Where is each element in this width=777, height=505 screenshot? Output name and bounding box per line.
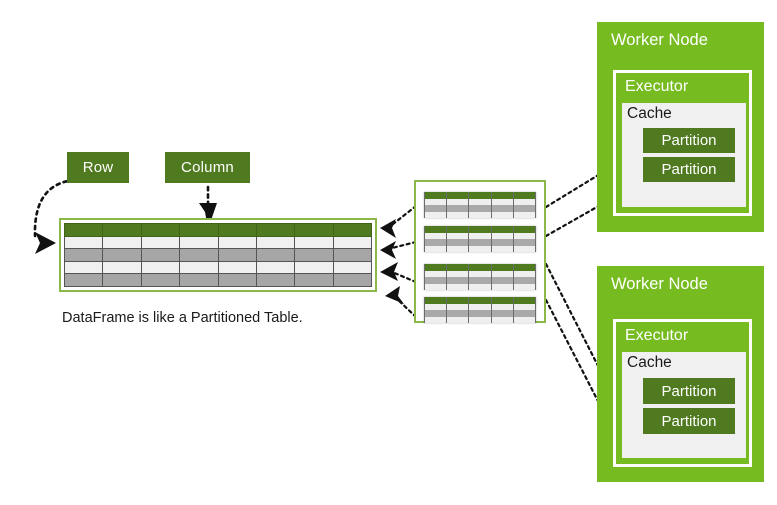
partition-mini-cell (491, 246, 513, 253)
partition-mini-cell (447, 246, 469, 253)
dataframe-cell (295, 224, 333, 237)
dataframe-cell (256, 261, 294, 274)
partition-mini-table (424, 226, 536, 252)
dataframe-cell (103, 261, 141, 274)
page-title: DataFrame is like a Partitioned Table. (62, 310, 303, 326)
worker-node-2-partition-2: Partition (643, 408, 735, 434)
partition-mini-cell (491, 317, 513, 324)
dataframe-cell (295, 274, 333, 287)
dataframe-cell (218, 274, 256, 287)
dataframe-row (65, 261, 372, 274)
partition-mini-cell (447, 317, 469, 324)
partition-mini-cell (425, 317, 447, 324)
partition-mini-cell (491, 212, 513, 219)
worker-node-2-cache: Cache Partition Partition (622, 352, 746, 458)
partition-mini-row (425, 284, 536, 291)
dataframe-cell (180, 274, 218, 287)
partition-mini-table (424, 264, 536, 290)
worker-node-2: Worker Node Executor Cache Partition Par… (597, 266, 764, 482)
worker-node-1-partition-2: Partition (643, 157, 735, 182)
dataframe-cell (256, 249, 294, 262)
partition-mini-cell (469, 317, 491, 324)
partition-mini-row (425, 246, 536, 253)
dataframe-cell (180, 261, 218, 274)
label-chip-column-text: Column (181, 159, 234, 176)
dataframe-cell (141, 274, 179, 287)
dataframe-row (65, 249, 372, 262)
partition-mini-cell (425, 212, 447, 219)
partition-container (414, 180, 546, 323)
dataframe-row (65, 236, 372, 249)
dataframe-cell (295, 236, 333, 249)
partition-mini-table (424, 297, 536, 323)
worker-node-2-cache-title: Cache (627, 354, 672, 372)
dataframe-cell (218, 236, 256, 249)
dataframe-cell (333, 236, 371, 249)
dataframe-cell (218, 224, 256, 237)
dataframe-cell (180, 236, 218, 249)
partition-mini-cell (513, 284, 535, 291)
label-chip-column: Column (165, 152, 250, 183)
worker-node-1-partition-1-label: Partition (661, 132, 716, 149)
dataframe-cell (65, 274, 103, 287)
dataframe-cell (218, 249, 256, 262)
dataframe-cell (333, 274, 371, 287)
diagram-canvas: Row Column DataFrame is like a Partition… (0, 0, 777, 505)
worker-node-1-executor: Executor Cache Partition Partition (613, 70, 752, 216)
dataframe-cell (256, 274, 294, 287)
dataframe-cell (65, 261, 103, 274)
dataframe-table (59, 218, 377, 292)
partition-mini-table (424, 192, 536, 218)
dataframe-cell (141, 224, 179, 237)
worker-node-1-executor-title: Executor (625, 78, 688, 96)
worker-node-2-executor: Executor Cache Partition Partition (613, 319, 752, 467)
partition-mini-cell (469, 246, 491, 253)
partition-mini-cell (491, 284, 513, 291)
dataframe-cell (180, 249, 218, 262)
worker-node-1-partition-2-label: Partition (661, 161, 716, 178)
worker-node-1-title: Worker Node (611, 31, 708, 50)
dataframe-row (65, 274, 372, 287)
dataframe-cell (103, 249, 141, 262)
worker-node-2-title: Worker Node (611, 275, 708, 294)
dataframe-cell (256, 224, 294, 237)
worker-node-2-executor-title: Executor (625, 327, 688, 345)
worker-node-1-cache-title: Cache (627, 105, 672, 123)
dataframe-cell (333, 249, 371, 262)
partition-mini-cell (513, 246, 535, 253)
partition-mini-cell (469, 284, 491, 291)
dataframe-cell (180, 224, 218, 237)
label-chip-row: Row (67, 152, 129, 183)
worker-node-1: Worker Node Executor Cache Partition Par… (597, 22, 764, 232)
partition-mini-cell (425, 284, 447, 291)
dataframe-cell (65, 224, 103, 237)
partition-mini-cell (447, 212, 469, 219)
worker-node-1-partition-1: Partition (643, 128, 735, 153)
dataframe-cell (141, 249, 179, 262)
worker-node-2-partition-2-label: Partition (661, 413, 716, 430)
dataframe-cell (103, 236, 141, 249)
dataframe-cell (65, 236, 103, 249)
worker-node-2-partition-1-label: Partition (661, 383, 716, 400)
dataframe-cell (295, 261, 333, 274)
partition-mini-row (425, 317, 536, 324)
dataframe-cell (333, 261, 371, 274)
partition-mini-cell (447, 284, 469, 291)
arrows-dataframe-to-partitions (380, 206, 416, 317)
dataframe-grid (64, 223, 372, 287)
dataframe-cell (141, 261, 179, 274)
worker-node-2-partition-1: Partition (643, 378, 735, 404)
dataframe-cell (141, 236, 179, 249)
partition-mini-cell (469, 212, 491, 219)
dataframe-row (65, 224, 372, 237)
partition-mini-cell (513, 317, 535, 324)
dataframe-cell (65, 249, 103, 262)
dataframe-cell (103, 224, 141, 237)
dataframe-cell (218, 261, 256, 274)
partition-mini-cell (513, 212, 535, 219)
dataframe-cell (295, 249, 333, 262)
label-chip-row-text: Row (83, 159, 114, 176)
dataframe-cell (256, 236, 294, 249)
dataframe-cell (333, 224, 371, 237)
worker-node-1-cache: Cache Partition Partition (622, 103, 746, 207)
partition-mini-cell (425, 246, 447, 253)
dataframe-cell (103, 274, 141, 287)
partition-mini-row (425, 212, 536, 219)
